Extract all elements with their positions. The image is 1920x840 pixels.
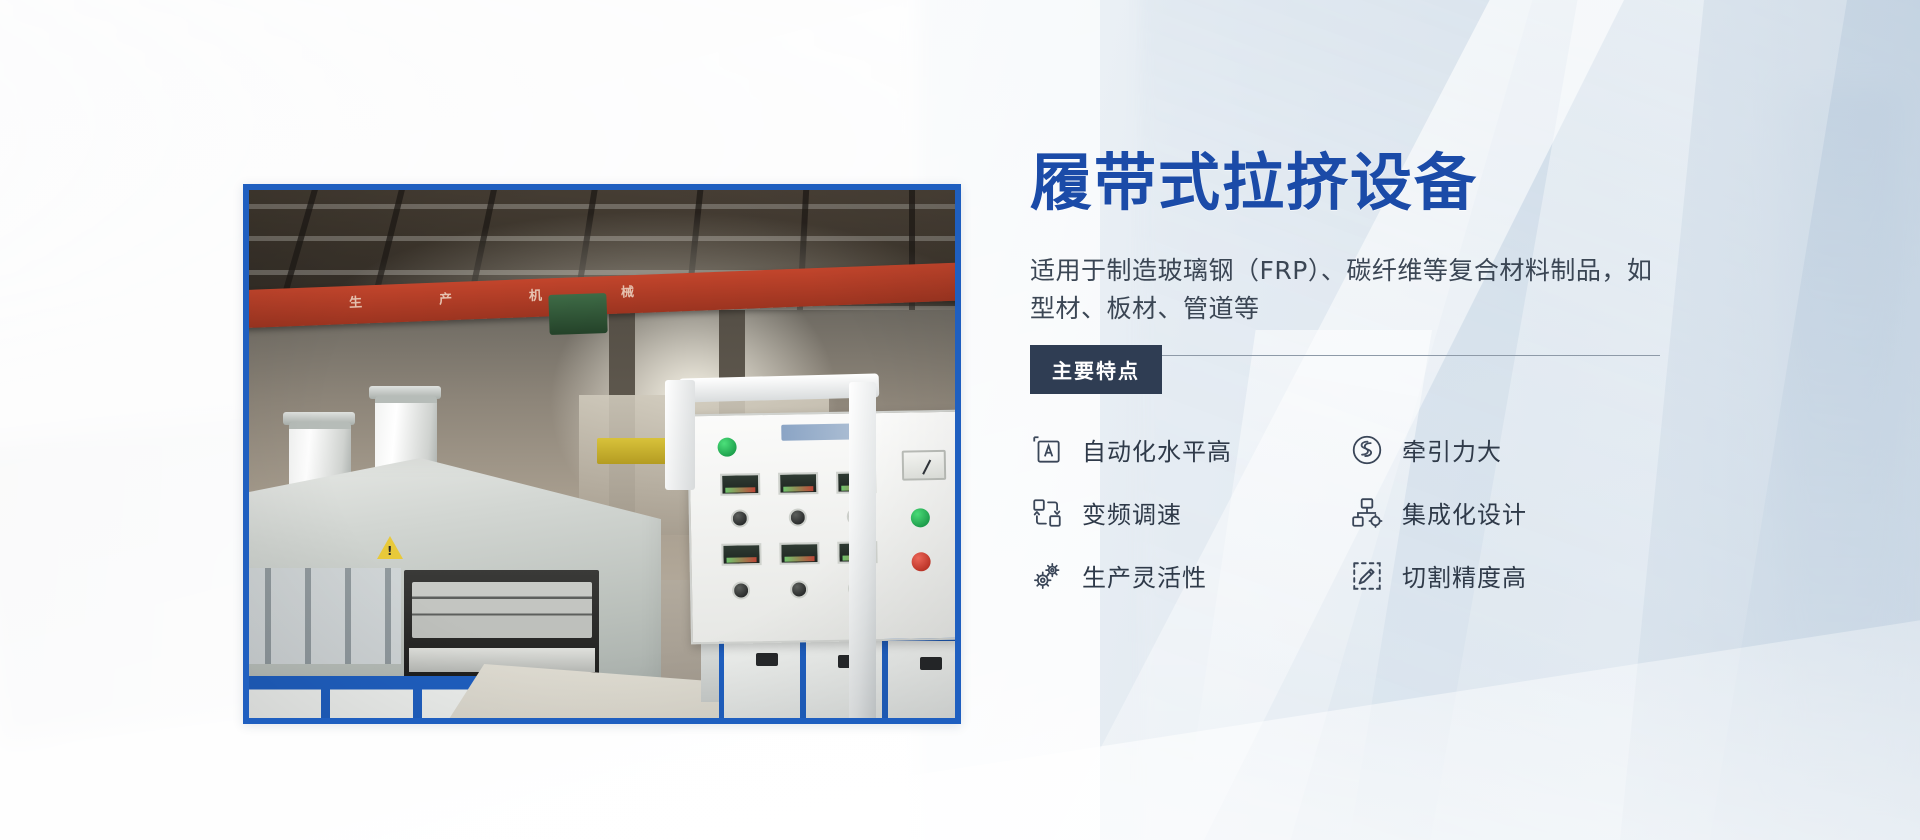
feature-item-frequency[interactable]: 变频调速 (1030, 495, 1350, 530)
product-description: 适用于制造玻璃钢（FRP）、碳纤维等复合材料制品，如型材、板材、管道等 (1030, 252, 1660, 330)
feature-item-precision[interactable]: 切割精度高 (1350, 558, 1670, 593)
feature-label: 生产灵活性 (1082, 558, 1207, 593)
automation-icon (1030, 433, 1064, 467)
feature-label: 变频调速 (1082, 495, 1182, 530)
feature-item-traction[interactable]: 牵引力大 (1350, 432, 1670, 467)
feature-label: 集成化设计 (1402, 495, 1527, 530)
feature-label: 自动化水平高 (1082, 432, 1232, 467)
factory-photo: 生 产 机 械 (249, 190, 955, 718)
frequency-icon (1030, 496, 1064, 530)
feature-list: 自动化水平高 牵引力大 (1030, 432, 1690, 593)
precision-icon (1350, 559, 1384, 593)
feature-label: 牵引力大 (1402, 432, 1502, 467)
feature-item-integration[interactable]: 集成化设计 (1350, 495, 1670, 530)
equipment-photo-card[interactable]: 生 产 机 械 (243, 184, 961, 724)
photo-vignette (249, 190, 955, 718)
traction-icon (1350, 433, 1384, 467)
feature-item-automation[interactable]: 自动化水平高 (1030, 432, 1350, 467)
banner-content: 履带式拉挤设备 适用于制造玻璃钢（FRP）、碳纤维等复合材料制品，如型材、板材、… (1030, 150, 1690, 593)
feature-item-flexibility[interactable]: 生产灵活性 (1030, 558, 1350, 593)
feature-label: 切割精度高 (1402, 558, 1527, 593)
status-badge: 主要特点 (1030, 345, 1162, 394)
gears-icon (1030, 559, 1064, 593)
badge-container: 主要特点 (1030, 356, 1690, 394)
page-title: 履带式拉挤设备 (1030, 150, 1690, 216)
integration-icon (1350, 496, 1384, 530)
